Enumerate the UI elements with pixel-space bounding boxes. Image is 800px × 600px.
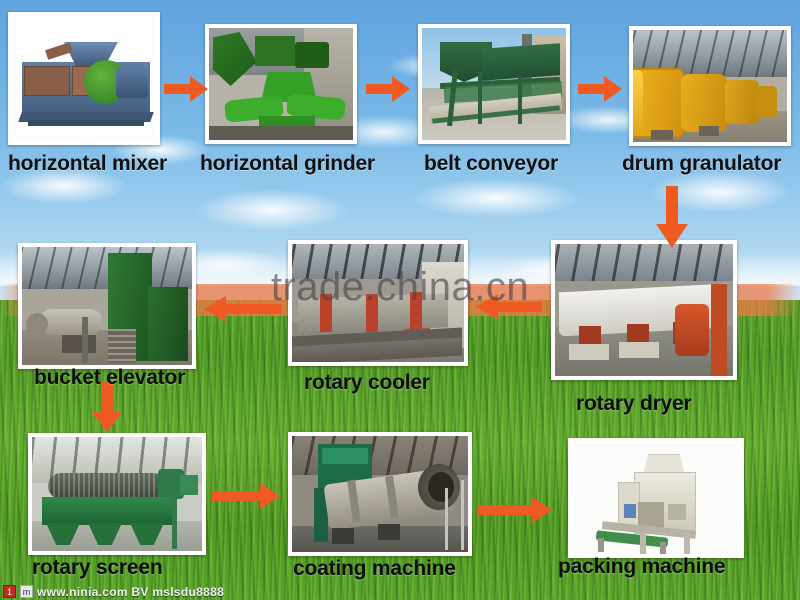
footer-badge-2-icon[interactable]: m	[20, 585, 33, 598]
arrow-screen-to-coating	[212, 482, 280, 510]
arrow-granulator-to-dryer	[655, 186, 689, 248]
step-panel-rotary-dryer[interactable]	[551, 240, 737, 380]
footer-text: www.ninia.com BV mslsdu8888	[37, 585, 224, 599]
arrow-mixer-to-grinder	[164, 74, 208, 104]
step-panel-coating-machine[interactable]	[288, 432, 472, 556]
packing-machine-photo	[572, 442, 740, 554]
label-drum-granulator: drum granulator	[622, 152, 781, 176]
drum-granulator-photo	[633, 30, 787, 142]
arrow-conveyor-to-granulator	[578, 74, 622, 104]
rotary-screen-photo	[32, 437, 202, 551]
step-panel-drum-granulator[interactable]	[629, 26, 791, 146]
label-horizontal-grinder: horizontal grinder	[200, 152, 375, 176]
footer-badge-1-icon[interactable]: 1	[3, 585, 16, 598]
label-rotary-cooler: rotary cooler	[304, 371, 430, 395]
arrow-coating-to-packing	[478, 496, 552, 524]
footer-bar: 1 m www.ninia.com BV mslsdu8888	[0, 584, 227, 600]
horizontal-grinder-photo	[209, 28, 353, 140]
belt-conveyor-photo	[422, 28, 566, 140]
label-rotary-dryer: rotary dryer	[576, 392, 692, 416]
step-panel-horizontal-grinder[interactable]	[205, 24, 357, 144]
coating-machine-photo	[292, 436, 468, 552]
step-panel-packing-machine[interactable]	[568, 438, 744, 558]
step-panel-rotary-cooler[interactable]	[288, 240, 468, 366]
arrow-cooler-to-elevator	[204, 294, 282, 324]
rotary-dryer-photo	[555, 244, 733, 376]
label-belt-conveyor: belt conveyor	[424, 152, 558, 176]
step-panel-bucket-elevator[interactable]	[18, 243, 196, 369]
label-horizontal-mixer: horizontal mixer	[8, 152, 167, 176]
step-panel-horizontal-mixer[interactable]	[8, 12, 160, 145]
rotary-cooler-photo	[292, 244, 464, 362]
label-coating-machine: coating machine	[293, 557, 456, 581]
arrow-grinder-to-conveyor	[366, 74, 410, 104]
arrow-dryer-to-cooler	[476, 292, 542, 322]
label-packing-machine: packing machine	[558, 555, 725, 579]
label-rotary-screen: rotary screen	[32, 556, 162, 580]
label-bucket-elevator: bucket elevator	[34, 366, 185, 390]
bucket-elevator-photo	[22, 247, 192, 365]
step-panel-belt-conveyor[interactable]	[418, 24, 570, 144]
horizontal-mixer-photo	[12, 16, 156, 141]
step-panel-rotary-screen[interactable]	[28, 433, 206, 555]
